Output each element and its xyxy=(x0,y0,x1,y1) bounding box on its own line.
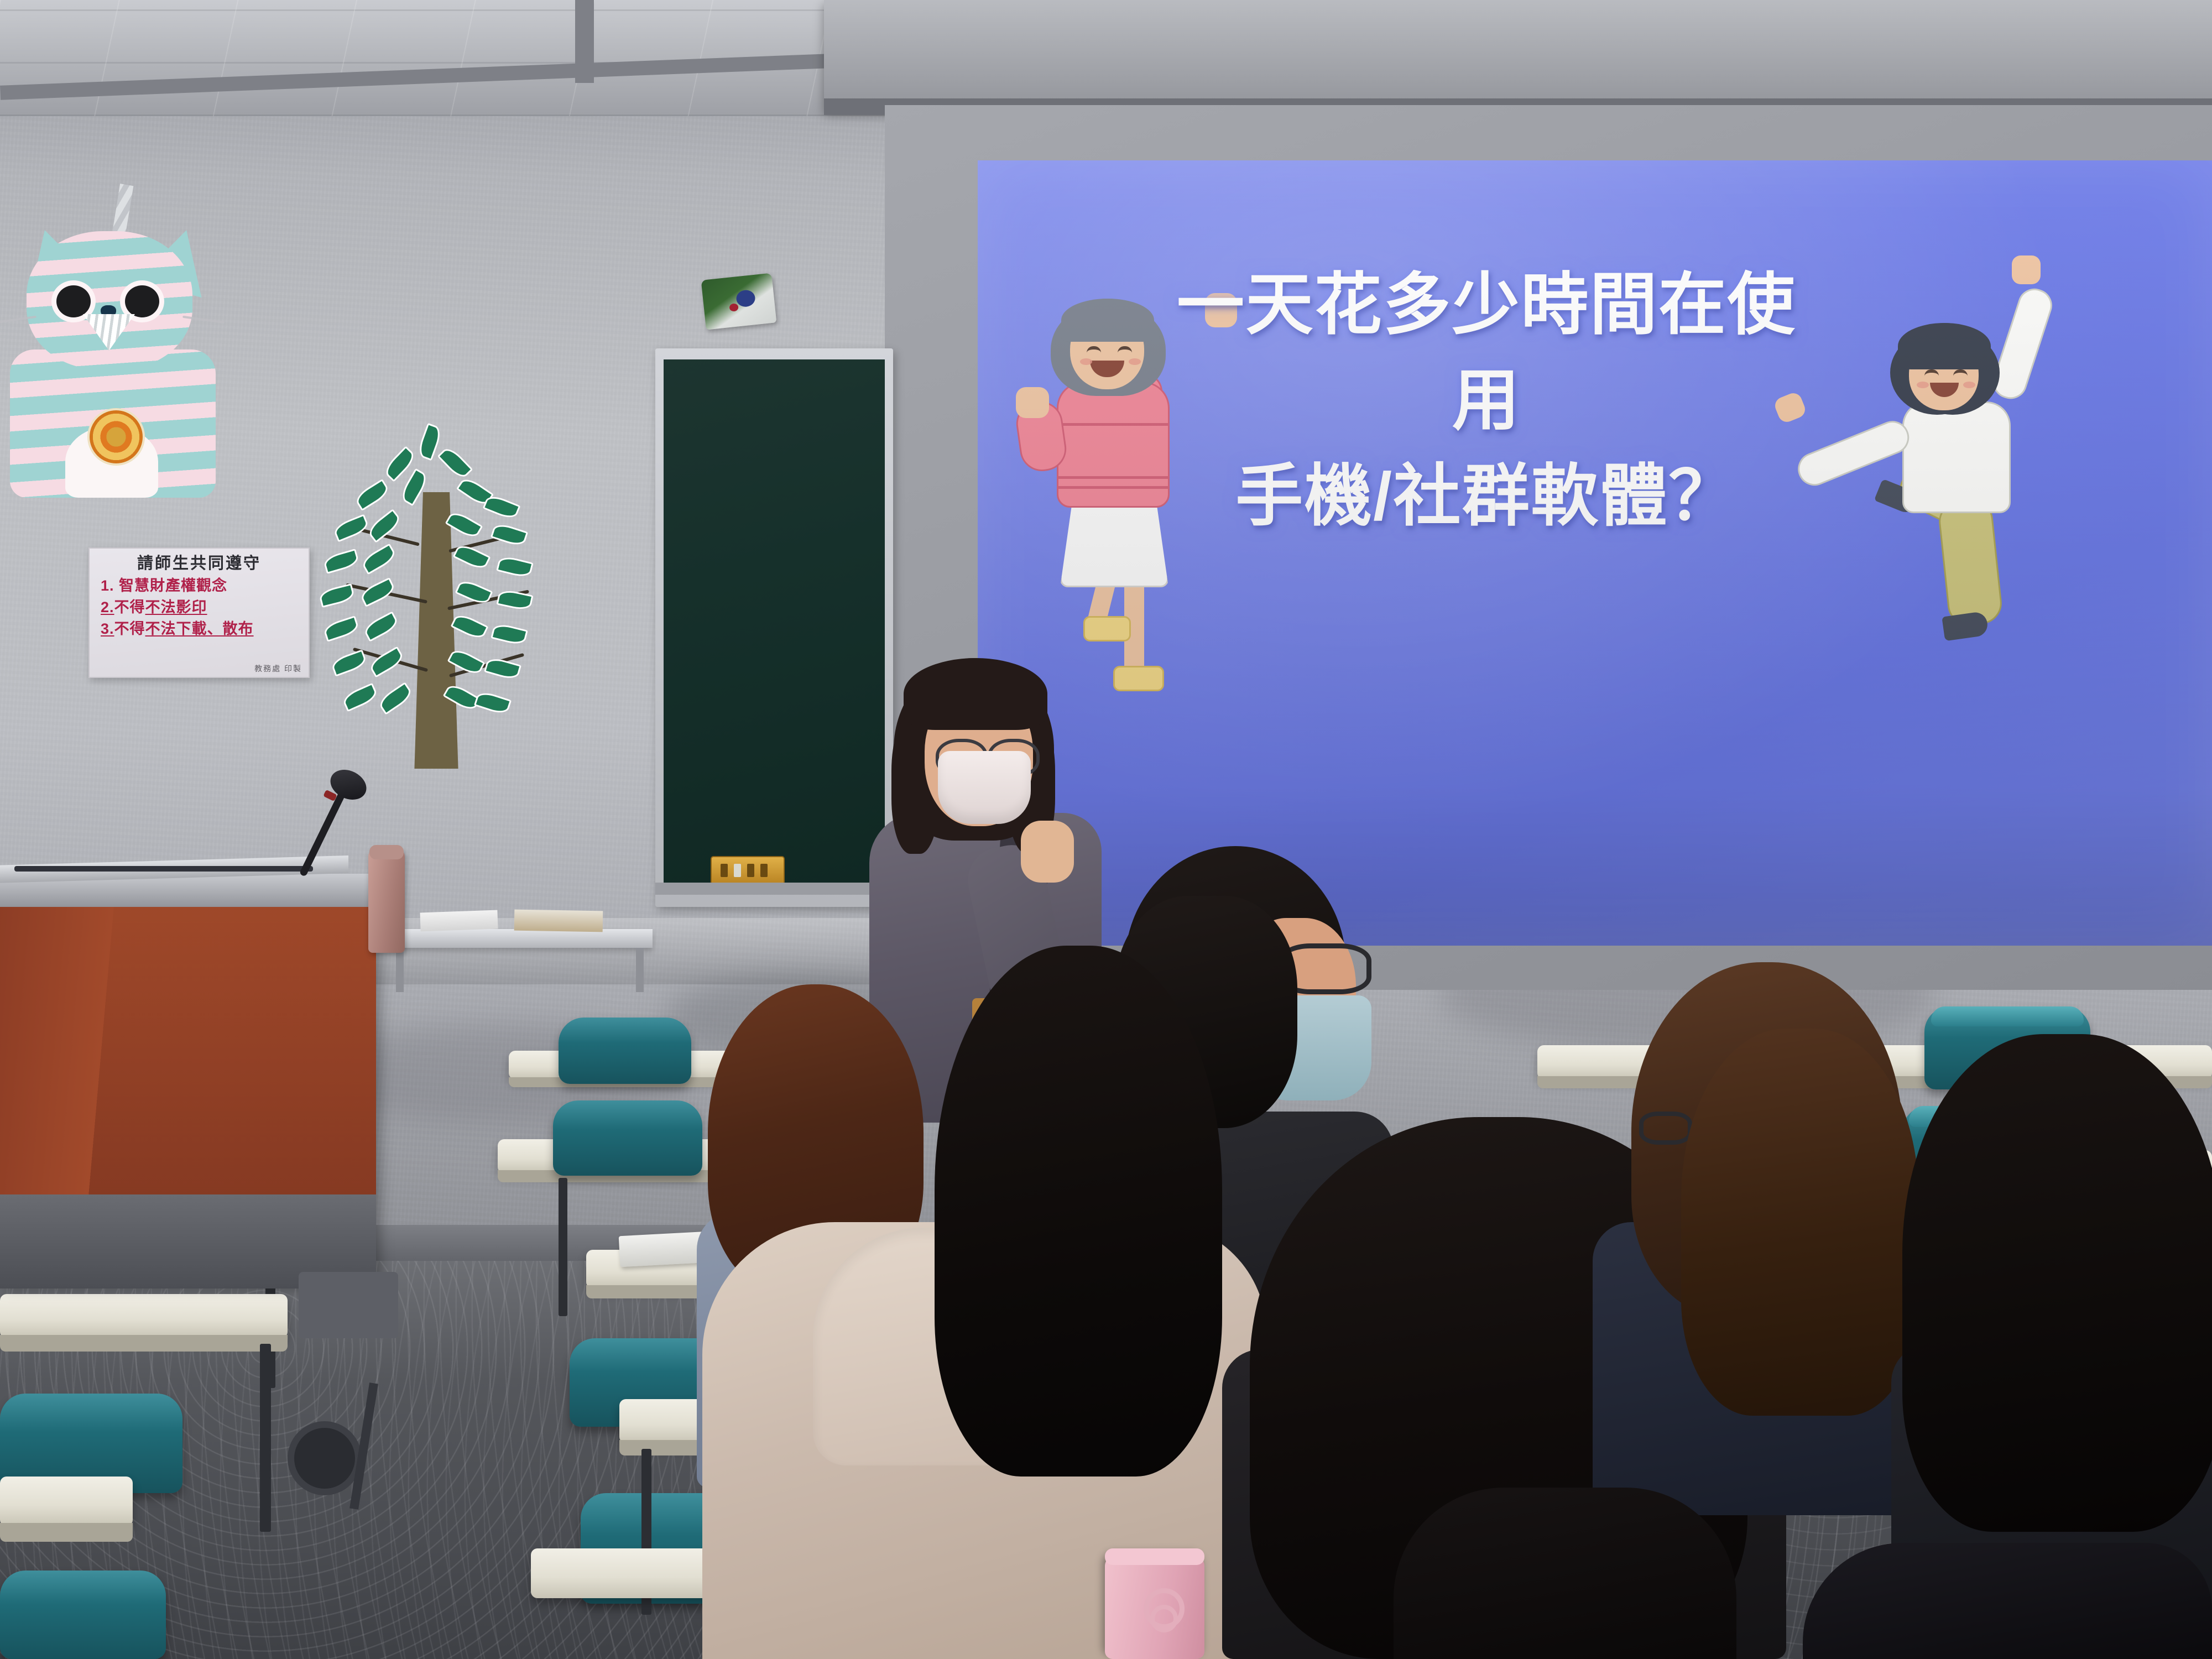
poster-rule-2: 2.不得不法影印 xyxy=(95,598,303,617)
poster-rule-3: 3.不得不法下載、散布 xyxy=(95,620,303,638)
presenter-fringe xyxy=(904,658,1047,730)
student-hair xyxy=(935,946,1222,1477)
thermos-bottle xyxy=(368,848,405,953)
book-on-shelf xyxy=(514,910,603,932)
poster-rule-1: 1. 智慧財產權觀念 xyxy=(95,577,303,595)
poster-signature: 教務處 印製 xyxy=(254,663,302,674)
face-mask xyxy=(938,751,1031,824)
bottle-handle-loop xyxy=(1150,1605,1178,1632)
thermos-cap xyxy=(369,845,404,859)
cat-mascot-decoration xyxy=(0,188,238,498)
chalkboard xyxy=(664,359,885,885)
tree-trunk xyxy=(413,492,460,769)
chalkboard-plaque xyxy=(711,856,785,885)
desk xyxy=(0,1294,288,1338)
student-hair-front xyxy=(1681,1029,1919,1416)
mascot-eye xyxy=(56,285,91,317)
mascot-medal xyxy=(87,408,145,466)
chair xyxy=(559,1018,691,1084)
classroom-scene: 一天花多少時間在使用 手機/社群軟體？ 請師生共同遵守 1. 智慧財產權觀念 xyxy=(0,0,2212,1659)
ceiling-beam xyxy=(575,0,594,83)
rules-poster: 請師生共同遵守 1. 智慧財產權觀念 2.不得不法影印 3.不得不法下載、散布 … xyxy=(88,547,310,678)
foreground-silhouette xyxy=(1803,1543,2212,1659)
papers-on-shelf xyxy=(420,910,498,932)
student-hair xyxy=(1902,1034,2212,1532)
wall-shelf xyxy=(387,929,653,948)
chalk-tray xyxy=(655,883,893,895)
chair xyxy=(0,1571,166,1659)
paper-tree-decoration xyxy=(310,426,553,769)
poster-heading: 請師生共同遵守 xyxy=(95,554,303,573)
lectern-slot xyxy=(14,866,313,872)
projector-screen-housing xyxy=(824,0,2212,111)
glasses-icon xyxy=(1639,1112,1692,1145)
desk xyxy=(0,1477,133,1526)
bottle-lid xyxy=(1105,1548,1204,1565)
mascot-eye xyxy=(125,285,159,317)
podium-caster-box xyxy=(299,1272,398,1338)
snack-package xyxy=(701,273,777,330)
podium-caster-wheel xyxy=(288,1421,362,1495)
foreground-silhouette xyxy=(1394,1488,1736,1659)
chair xyxy=(553,1100,702,1176)
presenter-hand xyxy=(1021,821,1074,883)
student-right-glasses xyxy=(1593,962,1936,1515)
